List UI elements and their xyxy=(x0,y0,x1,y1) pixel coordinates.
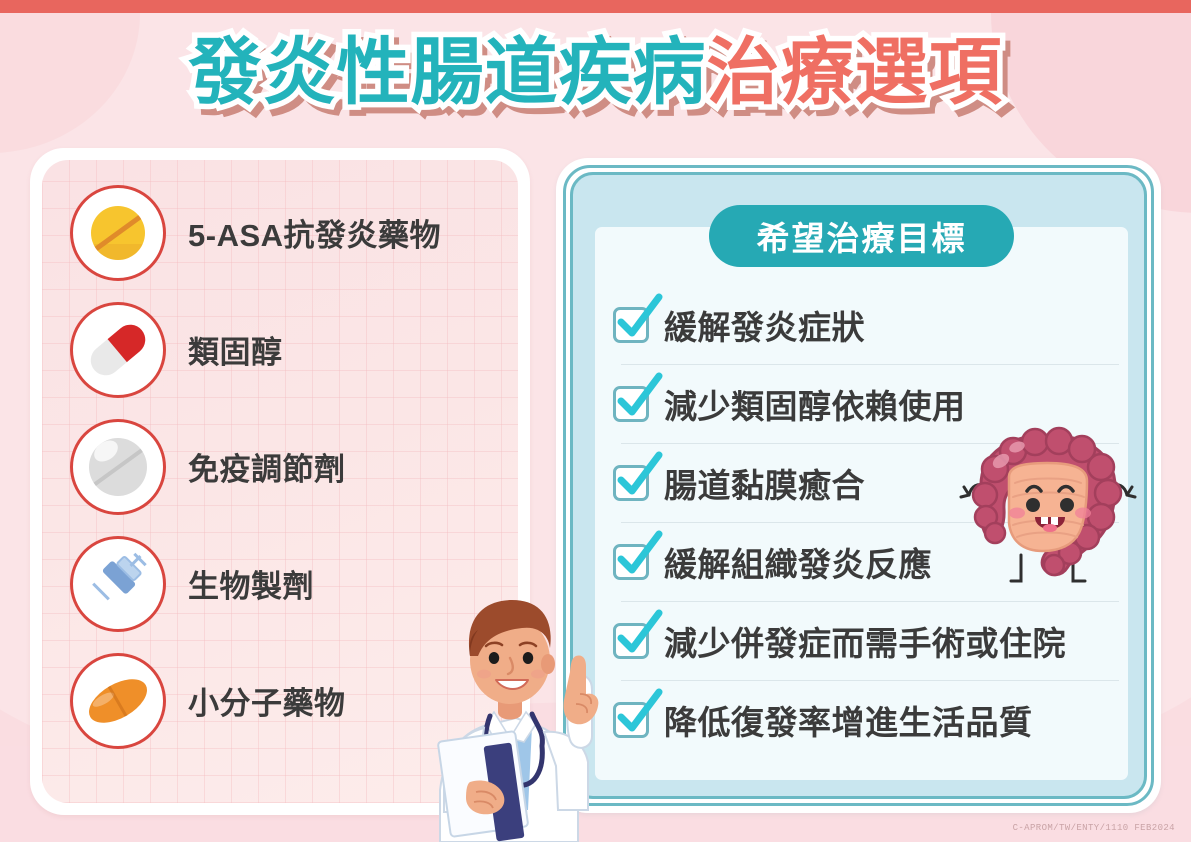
drug-icon-badge xyxy=(70,419,166,515)
grey-round-tablet-icon xyxy=(89,438,147,496)
orange-oval-tablet-icon xyxy=(82,670,154,731)
drug-label: 類固醇 xyxy=(188,327,283,372)
page-title-part-one: 發炎性腸道疾病 xyxy=(189,34,707,112)
regulatory-code: C-APROM/TW/ENTY/1110 FEB2024 xyxy=(1013,823,1175,833)
yellow-round-tablet-icon xyxy=(91,206,145,260)
list-item[interactable]: 類固醇 xyxy=(42,291,518,408)
drug-icon-badge xyxy=(70,653,166,749)
top-accent-bar xyxy=(0,0,1191,13)
drug-icon-badge xyxy=(70,536,166,632)
happy-intestine-mascot-illustration xyxy=(955,425,1140,610)
doctor-pointing-illustration xyxy=(398,560,648,842)
list-item[interactable]: 緩解發炎症狀 xyxy=(613,285,1138,364)
drug-label: 免疫調節劑 xyxy=(188,444,346,489)
page-title: 發炎性腸道疾病治療選項 xyxy=(0,34,1191,112)
list-item[interactable]: 減少併發症而需手術或住院 xyxy=(613,601,1138,680)
drug-label: 生物製劑 xyxy=(188,561,314,606)
drug-label: 小分子藥物 xyxy=(188,678,346,723)
poster-canvas: 發炎性腸道疾病治療選項 5-ASA抗發炎藥物 類固 xyxy=(0,0,1191,842)
list-item[interactable]: 5-ASA抗發炎藥物 xyxy=(42,174,518,291)
list-item[interactable]: 降低復發率增進生活品質 xyxy=(613,680,1138,759)
goal-label: 減少併發症而需手術或住院 xyxy=(664,617,1066,665)
checkbox-checked-icon[interactable] xyxy=(613,465,649,501)
checkbox-checked-icon[interactable] xyxy=(613,307,649,343)
goal-label: 緩解發炎症狀 xyxy=(664,301,865,349)
goal-label: 腸道黏膜癒合 xyxy=(664,459,865,507)
list-item[interactable]: 免疫調節劑 xyxy=(42,408,518,525)
goal-label: 減少類固醇依賴使用 xyxy=(664,380,966,428)
drug-icon-badge xyxy=(70,185,166,281)
red-white-capsule-icon xyxy=(85,318,152,381)
drug-icon-badge xyxy=(70,302,166,398)
page-title-part-two: 治療選項 xyxy=(707,34,1003,112)
goal-label: 降低復發率增進生活品質 xyxy=(664,696,1033,744)
checkbox-checked-icon[interactable] xyxy=(613,386,649,422)
blue-syringe-icon xyxy=(86,552,150,616)
treatment-goals-heading: 希望治療目標 xyxy=(709,205,1014,267)
goal-label: 緩解組織發炎反應 xyxy=(664,538,932,586)
drug-label: 5-ASA抗發炎藥物 xyxy=(188,210,441,255)
